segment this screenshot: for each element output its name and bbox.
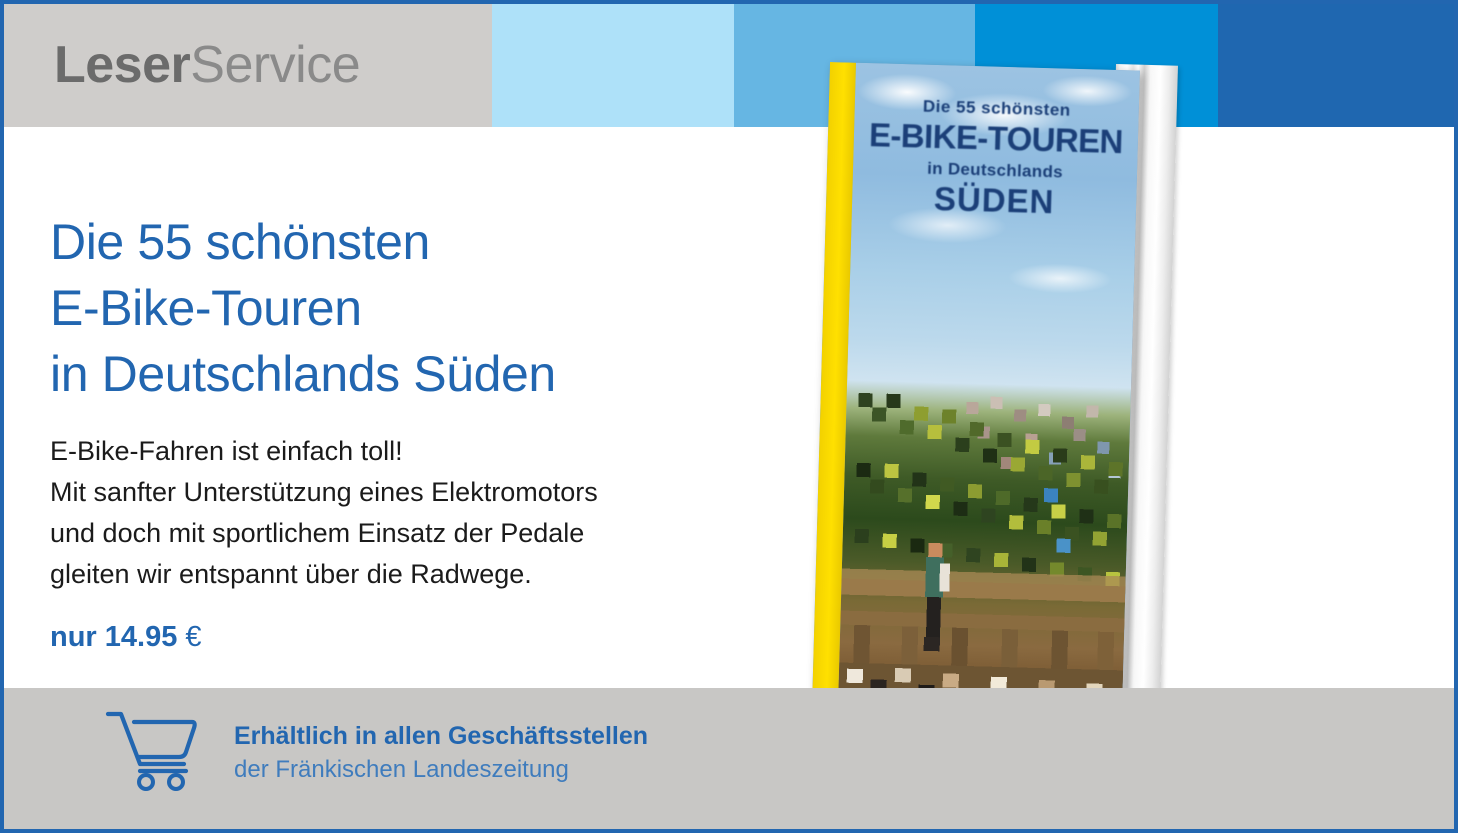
header-band-light-blue [492, 4, 734, 127]
book-cover-title: Die 55 schönsten E-BIKE-TOUREN in Deutsc… [852, 95, 1139, 223]
book-front-cover: Die 55 schönsten E-BIKE-TOUREN in Deutsc… [811, 62, 1140, 760]
brand-logo-light: Service [190, 36, 360, 94]
description-line-2: Mit sanfter Unterstützung eines Elektrom… [50, 472, 810, 513]
footer-text-block: Erhältlich in allen Geschäftsstellen der… [234, 715, 648, 786]
cover-title-line-4: SÜDEN [852, 178, 1137, 223]
description-line-1: E-Bike-Fahren ist einfach toll! [50, 431, 810, 472]
shopping-cart-icon [104, 708, 200, 792]
book-image: Die 55 schönsten E-BIKE-TOUREN in Deutsc… [830, 62, 1330, 762]
product-info-column: Die 55 schönsten E-Bike-Touren in Deutsc… [50, 209, 810, 654]
brand-logo-bold: Leser [54, 36, 190, 94]
product-headline: Die 55 schönsten E-Bike-Touren in Deutsc… [50, 209, 810, 407]
footer-bar: Erhältlich in allen Geschäftsstellen der… [4, 688, 1454, 829]
footer-publisher-line: der Fränkischen Landeszeitung [234, 753, 648, 786]
product-price: nur 14.95 € [50, 621, 810, 654]
headline-line-1: Die 55 schönsten [50, 209, 810, 275]
description-line-4: gleiten wir entspannt über die Radwege. [50, 554, 810, 595]
headline-line-3: in Deutschlands Süden [50, 341, 810, 407]
cover-title-line-2: E-BIKE-TOUREN [853, 117, 1138, 161]
footer-availability-line: Erhältlich in allen Geschäftsstellen [234, 719, 648, 753]
price-currency-symbol: € [185, 621, 201, 653]
advertisement-root: LeserService Die 55 schönsten E-Bike-Tou… [0, 0, 1458, 833]
description-line-3: und doch mit sportlichem Einsatz der Ped… [50, 513, 810, 554]
headline-line-2: E-Bike-Touren [50, 275, 810, 341]
brand-logo: LeserService [54, 34, 360, 96]
footer-content: Erhältlich in allen Geschäftsstellen der… [104, 708, 648, 792]
price-amount: nur 14.95 [50, 621, 177, 653]
product-description: E-Bike-Fahren ist einfach toll! Mit sanf… [50, 431, 810, 595]
